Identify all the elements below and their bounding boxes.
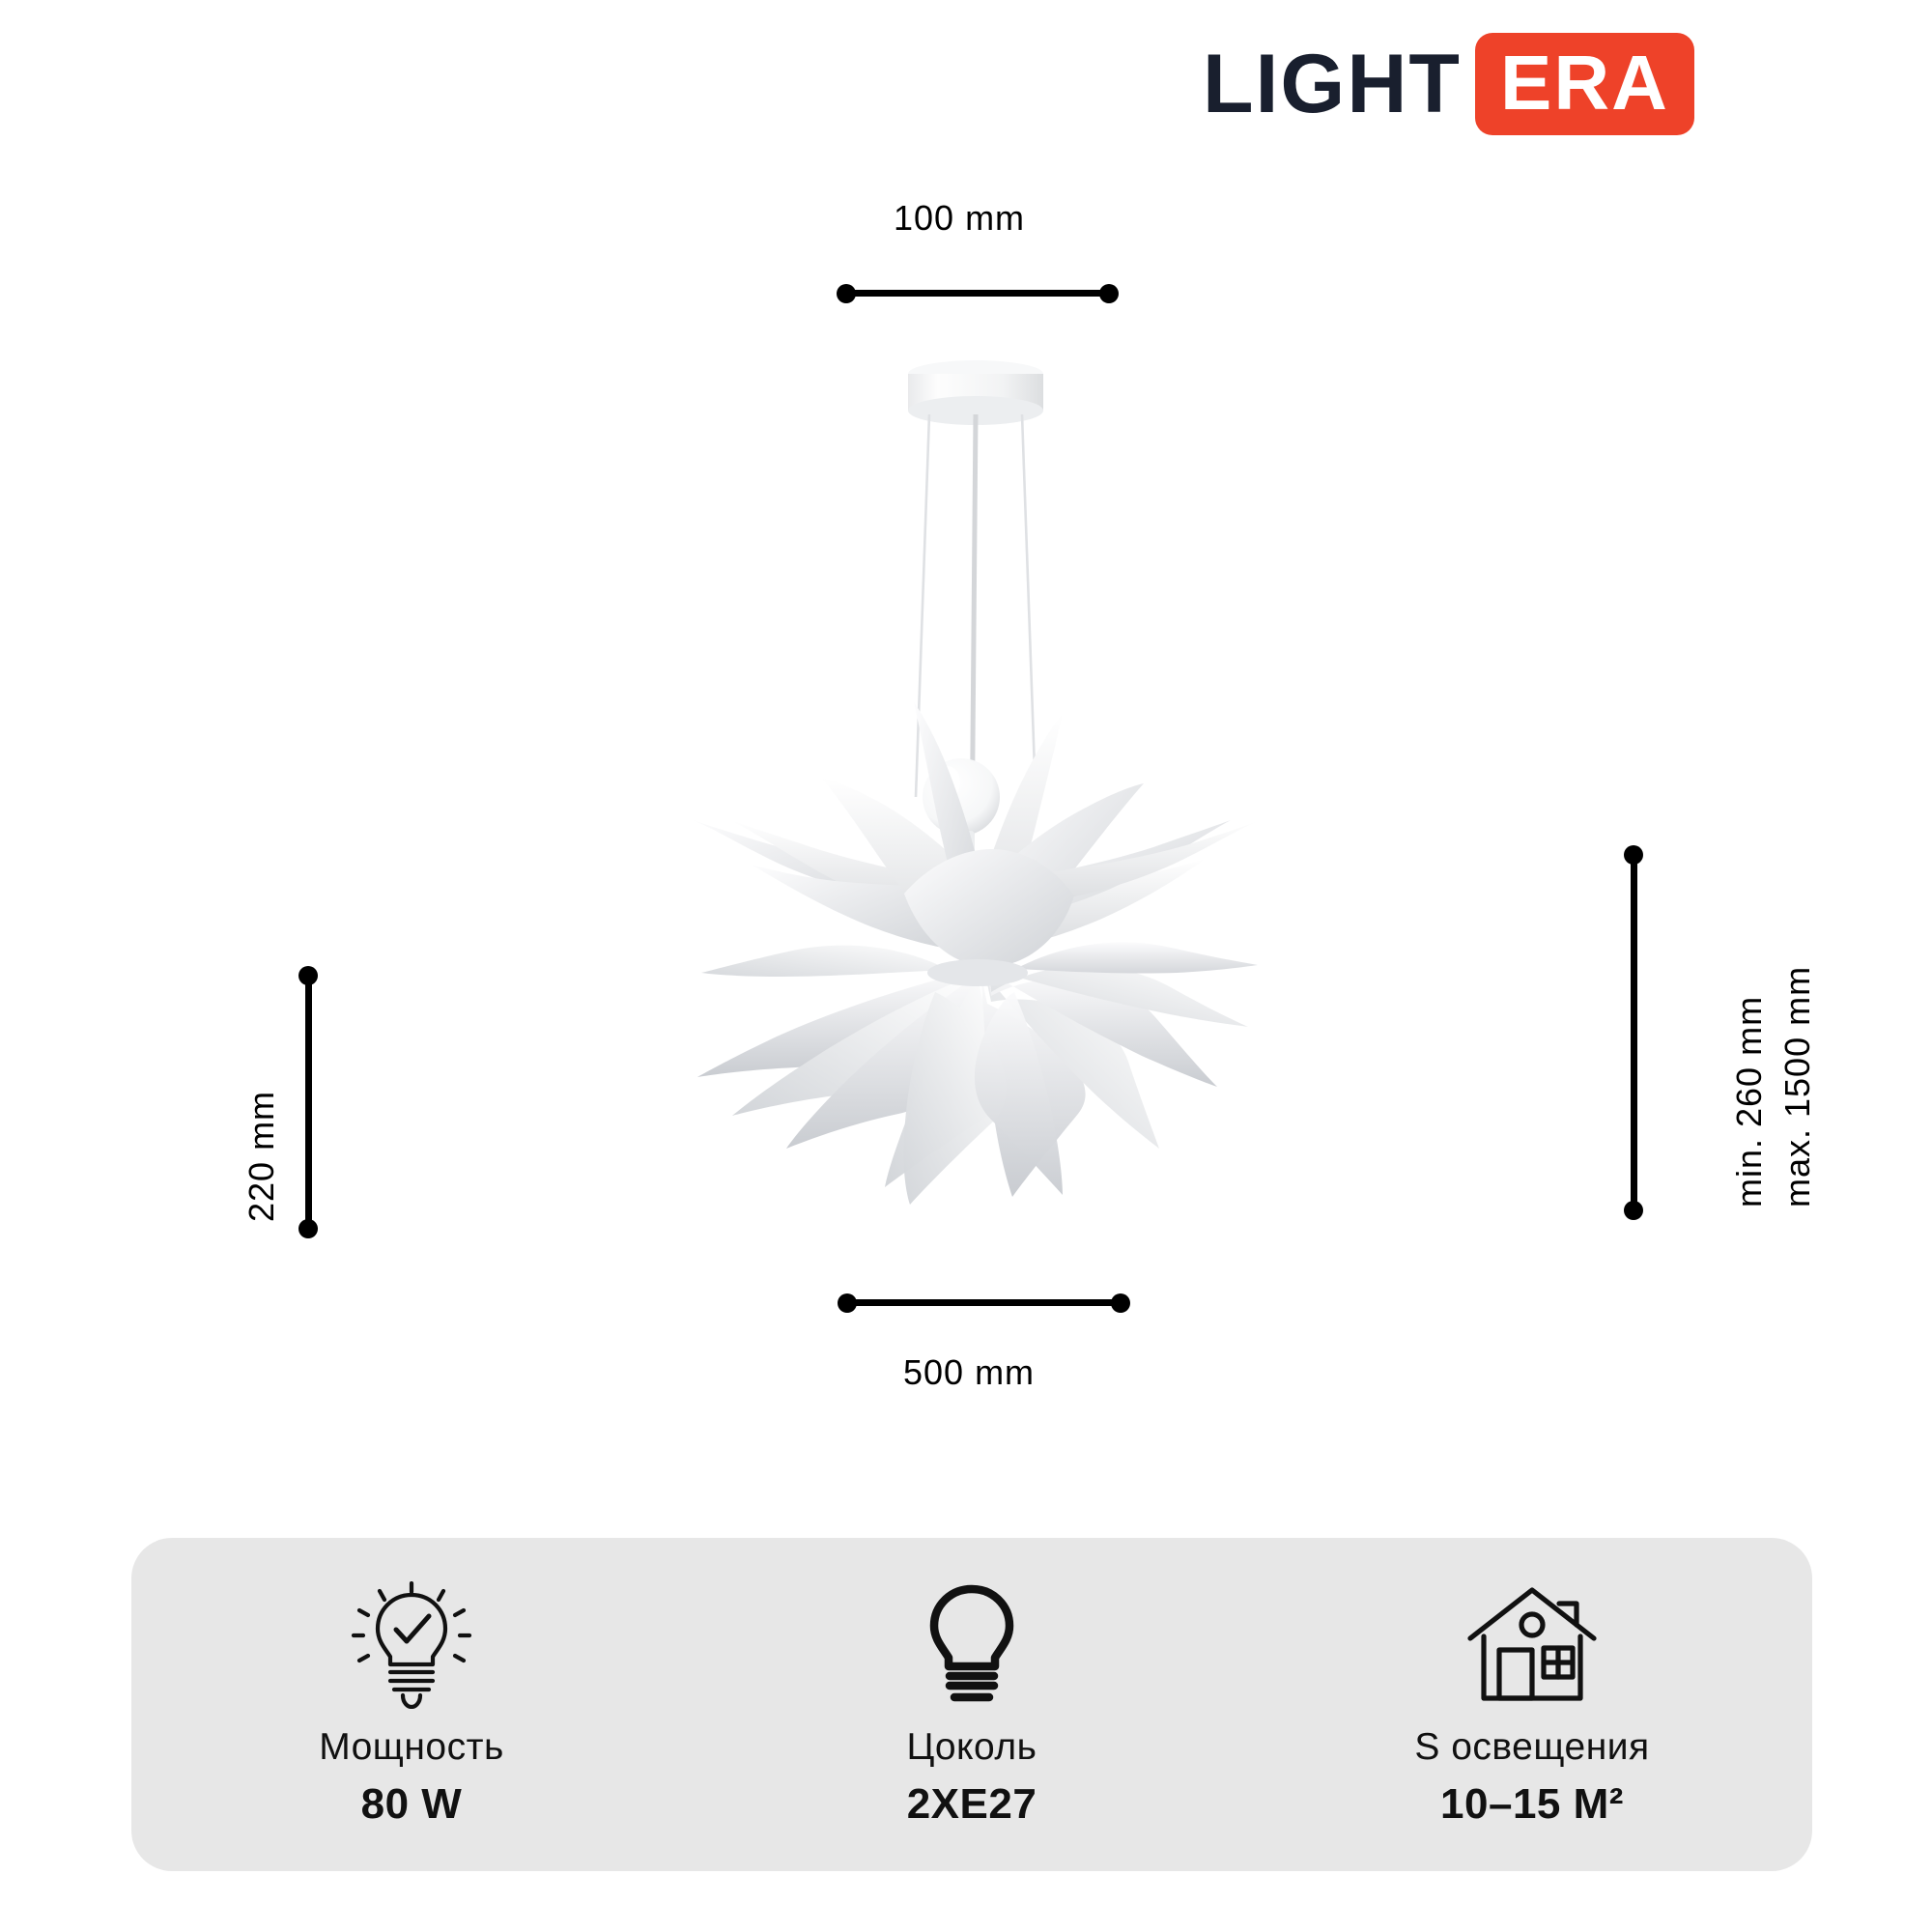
brand-logo-light-text: LIGHT [1203,43,1462,126]
dimension-line-bottom [845,1299,1121,1306]
dimension-endpoint-dot [838,1293,857,1313]
dimension-line-right [1631,855,1637,1212]
dimension-line-left [305,976,312,1232]
dimension-endpoint-dot [298,1219,318,1238]
dimension-label-right-max: max. 1500 mm [1777,966,1818,1207]
product-image-pendant-lamp [676,343,1275,1232]
spec-value-lighting-area: 10–15 M² [1440,1780,1624,1829]
dimension-line-top [844,290,1109,297]
dimension-label-bottom: 500 mm [903,1352,1035,1393]
spec-title-power: Мощность [319,1726,504,1769]
spec-title-lighting-area: S освещения [1414,1726,1649,1769]
lamp-petals-top [688,702,1265,967]
spec-item-lighting-area: S освещения 10–15 M² [1252,1581,1812,1829]
spec-value-power: 80 W [361,1780,463,1829]
lamp-petals-bottom [697,943,1258,1205]
dimension-endpoint-dot [1111,1293,1130,1313]
lightbulb-check-icon [350,1581,473,1709]
brand-logo-era-badge: ERA [1475,33,1694,135]
dimension-endpoint-dot [1624,845,1643,865]
spec-title-socket: Цоколь [907,1726,1037,1769]
spec-item-power: Мощность 80 W [131,1581,692,1829]
dimension-label-left: 220 mm [241,1091,282,1222]
dimension-endpoint-dot [1099,284,1119,303]
dimension-endpoint-dot [837,284,856,303]
spec-value-socket: 2XE27 [907,1780,1037,1829]
brand-logo: LIGHT ERA [1203,33,1694,135]
lightbulb-socket-icon [922,1581,1022,1709]
brand-logo-era-text: ERA [1500,44,1669,122]
dimension-endpoint-dot [298,966,318,985]
dimension-endpoint-dot [1624,1201,1643,1220]
product-spec-sheet: LIGHT ERA 100 mm 500 mm 220 mm max. 1500… [0,0,1932,1932]
spec-item-socket: Цоколь 2XE27 [692,1581,1252,1829]
house-icon [1464,1581,1600,1709]
dimension-label-top: 100 mm [894,198,1025,239]
specifications-panel: Мощность 80 W Цоколь 2XE27 [131,1538,1812,1871]
dimension-label-right-min: min. 260 mm [1729,996,1770,1207]
